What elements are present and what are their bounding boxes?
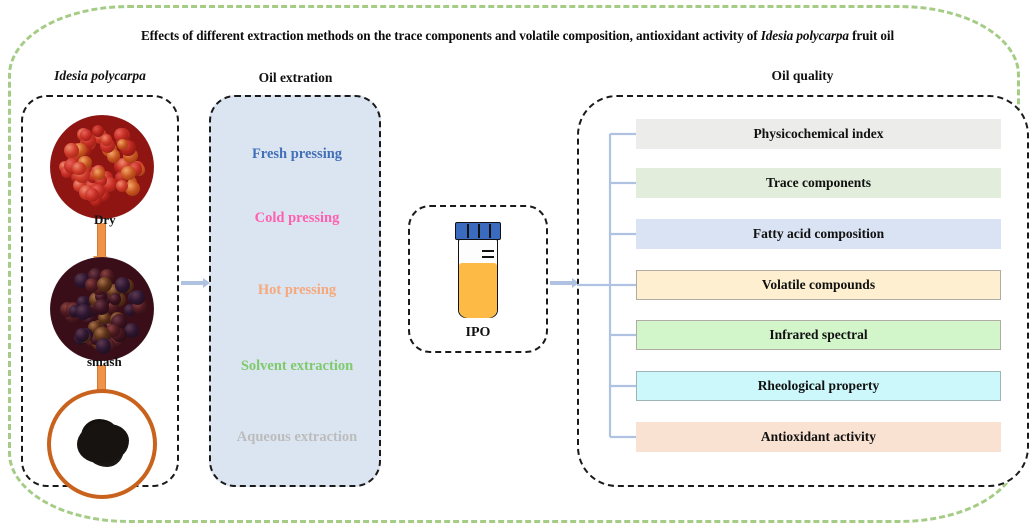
berry xyxy=(97,277,112,292)
page-title: Effects of different extraction methods … xyxy=(0,28,1035,44)
bottle-graduation-mark xyxy=(482,250,494,252)
berry xyxy=(93,168,105,180)
material-panel xyxy=(21,95,179,487)
oil-bottle-icon xyxy=(455,222,501,318)
title-species-name: Idesia polycarpa xyxy=(761,28,849,43)
title-text-after: fruit oil xyxy=(849,28,894,43)
berry xyxy=(94,299,109,314)
dry-step-label: Dry xyxy=(94,212,116,228)
berry xyxy=(121,166,135,180)
extraction-panel-caption: Oil extration xyxy=(208,70,383,86)
quality-item-fatty-acid-composition[interactable]: Fatty acid composition xyxy=(636,219,1001,249)
extraction-method-solvent-extraction[interactable]: Solvent extraction xyxy=(211,358,383,375)
berry xyxy=(130,290,145,305)
bottle-graduation-mark xyxy=(482,256,494,258)
extraction-panel: Fresh pressing Cold pressing Hot pressin… xyxy=(209,95,381,487)
berry xyxy=(96,338,111,353)
smash-step-label: smash xyxy=(87,354,122,370)
bottle-cap xyxy=(455,222,501,240)
berry xyxy=(75,328,89,342)
extraction-method-fresh-pressing[interactable]: Fresh pressing xyxy=(211,146,383,163)
quality-item-volatile-compounds[interactable]: Volatile compounds xyxy=(636,270,1001,300)
dried-fruit-bowl-image xyxy=(50,257,154,361)
material-panel-caption: Idesia polycarpa xyxy=(20,68,180,84)
title-text-before: Effects of different extraction methods … xyxy=(141,28,761,43)
quality-item-physicochemical-index[interactable]: Physicochemical index xyxy=(636,119,1001,149)
berry xyxy=(72,162,86,176)
extraction-method-hot-pressing[interactable]: Hot pressing xyxy=(211,282,383,299)
quality-item-rheological-property[interactable]: Rheological property xyxy=(636,371,1001,401)
powder-blob xyxy=(81,422,125,463)
bottle-oil-fill xyxy=(459,263,497,318)
quality-item-infrared-spectral[interactable]: Infrared spectral xyxy=(636,320,1001,350)
quality-panel-caption: Oil quality xyxy=(575,68,1030,84)
quality-item-antioxidant-activity[interactable]: Antioxidant activity xyxy=(636,422,1001,452)
berry xyxy=(76,304,92,320)
fresh-fruit-bowl-image xyxy=(50,115,154,219)
extraction-method-aqueous-extraction[interactable]: Aqueous extraction xyxy=(211,429,383,446)
berry xyxy=(101,134,113,146)
extraction-method-cold-pressing[interactable]: Cold pressing xyxy=(211,210,383,227)
ipo-label: IPO xyxy=(408,325,548,341)
quality-item-trace-components[interactable]: Trace components xyxy=(636,168,1001,198)
berry xyxy=(116,180,128,192)
berry xyxy=(109,293,121,305)
